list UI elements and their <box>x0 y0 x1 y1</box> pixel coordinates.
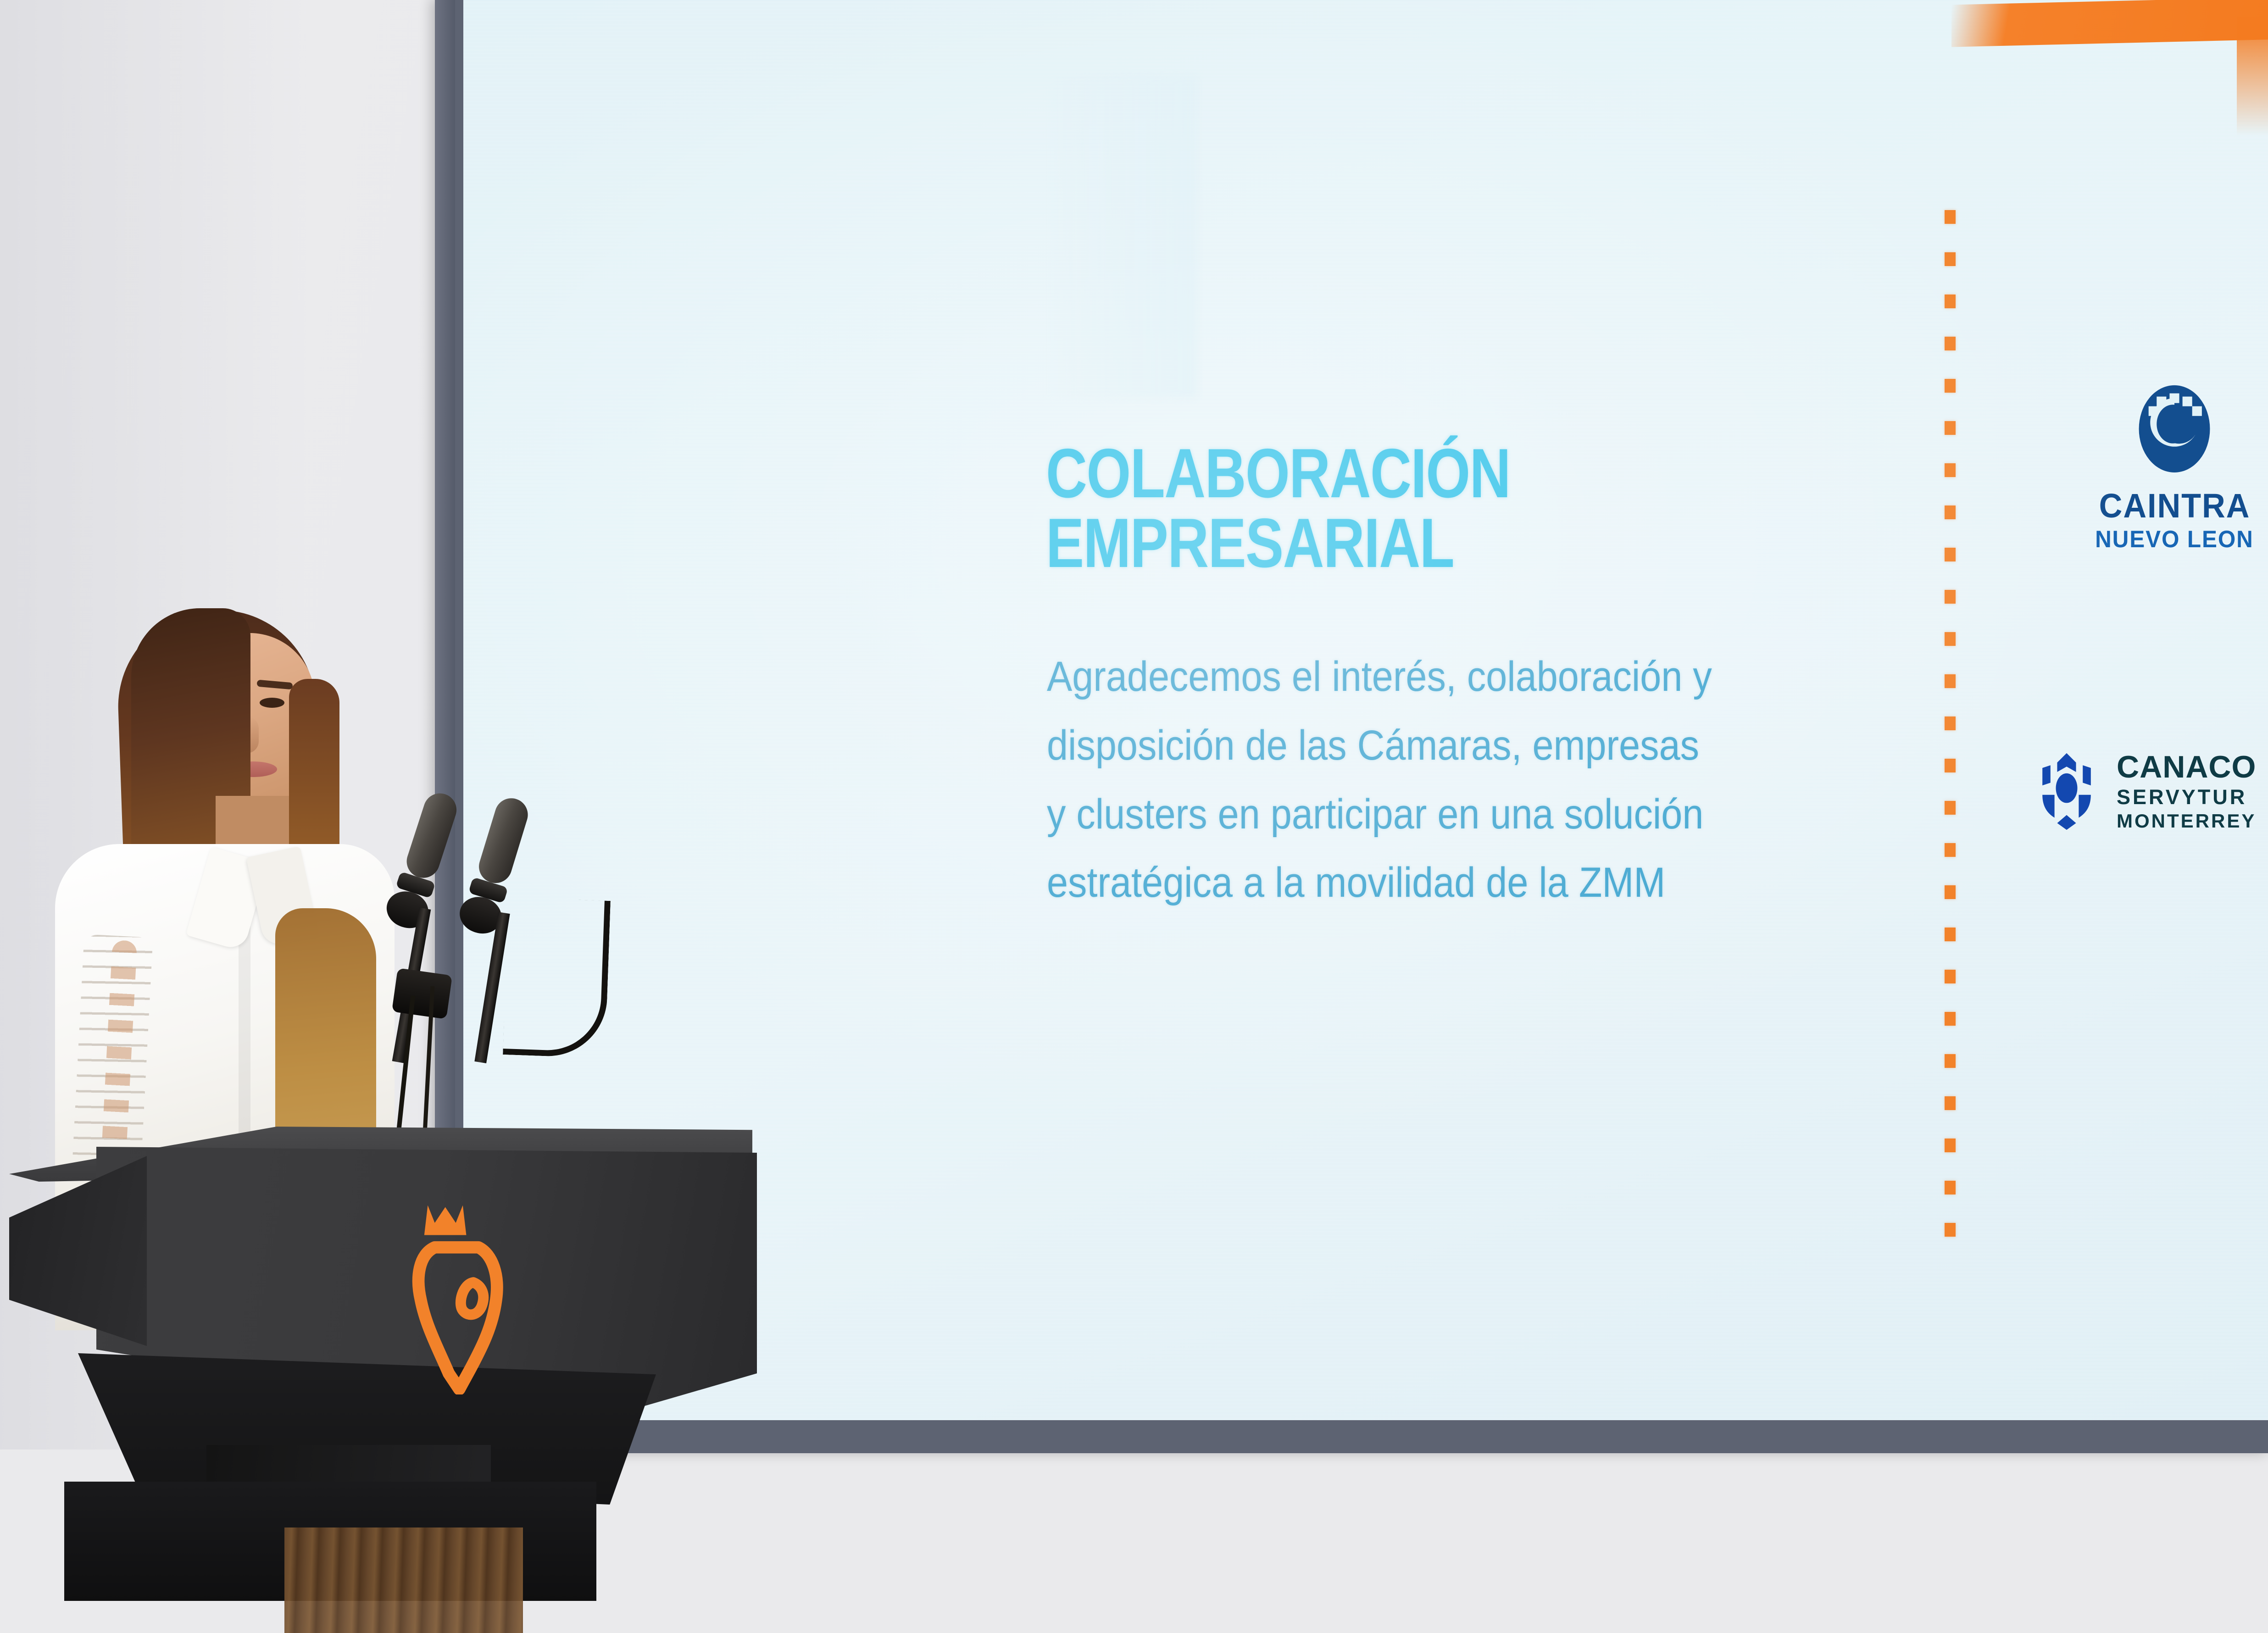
divider-dash <box>1945 1012 1956 1026</box>
divider-dash <box>1945 1223 1956 1237</box>
canaco-line-monterrey: MONTERREY <box>2117 811 2256 831</box>
divider-dash <box>1945 843 1956 857</box>
divider-dash <box>1945 1054 1956 1068</box>
nuevo-leon-crown-icon <box>408 1202 514 1394</box>
divider-dash <box>1945 337 1956 350</box>
logo-canaco: CANACO SERVYTUR MONTERREY <box>2032 750 2268 831</box>
divider-dash <box>1945 801 1956 815</box>
slide-body-line-4: estratégica a la movilidad de la ZMM <box>1047 851 1773 915</box>
divider-dash <box>1945 717 1956 730</box>
divider-dash <box>1945 421 1956 435</box>
divider-dash <box>1945 590 1956 604</box>
divider-dash <box>1945 252 1956 266</box>
canaco-petal-diamond-icon <box>2032 750 2101 831</box>
podium <box>9 1069 835 1450</box>
canaco-line-servytur: SERVYTUR <box>2117 787 2247 807</box>
slide-title: COLABORACIÓN EMPRESARIAL <box>1046 439 1761 578</box>
divider-dash <box>1945 759 1956 772</box>
divider-dash <box>1945 885 1956 899</box>
caintra-wordmark: CAINTRA <box>2099 489 2250 523</box>
dotted-divider <box>1945 210 1956 1251</box>
divider-dash <box>1945 463 1956 477</box>
microphone-clamp <box>392 968 452 1019</box>
slide-body-line-1: Agradecemos el interés, colaboración y <box>1047 645 1773 709</box>
divider-dash <box>1945 632 1956 646</box>
slide-body-line-3: y clusters en participar en una solución <box>1047 783 1773 847</box>
partner-logos: CAINTRA NUEVO LEON <box>2037 365 2268 906</box>
divider-dash <box>1945 548 1956 561</box>
canaco-wordmark: CANACO <box>2117 751 2256 783</box>
divider-dash <box>1945 1181 1956 1194</box>
divider-dash <box>1945 970 1956 983</box>
caintra-gear-oval-icon <box>2134 383 2215 481</box>
speaker-eye-right <box>260 698 284 708</box>
divider-dash <box>1945 294 1956 308</box>
divider-dash <box>1945 379 1956 393</box>
logo-caintra: CAINTRA NUEVO LEON <box>2078 383 2268 551</box>
slide-body-copy: Agradecemos el interés, colaboración y d… <box>1047 645 1773 920</box>
screen-edge-glow <box>1045 76 1196 397</box>
caintra-subtitle: NUEVO LEON <box>2095 528 2254 551</box>
divider-dash <box>1945 210 1956 224</box>
podium-wood-floor <box>284 1527 523 1633</box>
divider-dash <box>1945 928 1956 941</box>
divider-dash <box>1945 1139 1956 1152</box>
divider-dash <box>1945 1096 1956 1110</box>
divider-dash <box>1945 674 1956 688</box>
divider-dash <box>1945 505 1956 519</box>
slide-body-line-2: disposición de las Cámaras, empresas <box>1047 714 1773 778</box>
